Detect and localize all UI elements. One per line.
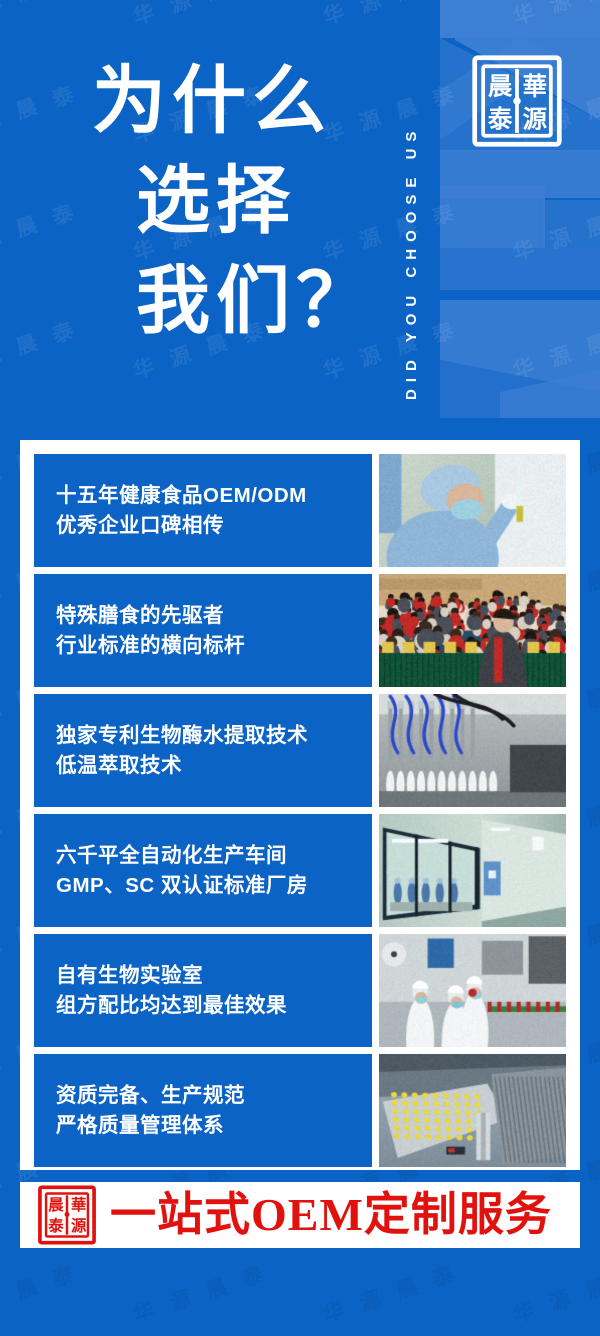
- feature-text-primary: 独家专利生物酶水提取技术: [56, 721, 372, 751]
- feature-text-primary: 六千平全自动化生产车间: [56, 841, 372, 871]
- svg-text:華: 華: [523, 72, 547, 100]
- seal-stamp-red-icon: 晨 華 泰 源: [36, 1183, 98, 1247]
- poster-root: 华 源 晨 泰华 源 晨 泰华 源 晨 泰华 源 晨 泰华 源 晨 泰华 源 晨…: [0, 0, 600, 1336]
- feature-text-secondary: 严格质量管理体系: [56, 1111, 372, 1141]
- feature-text-secondary: 行业标准的横向标杆: [56, 631, 372, 661]
- feature-card-1[interactable]: 十五年健康食品OEM/ODM优秀企业口碑相传: [34, 454, 372, 567]
- feature-photo-workers-white-coats-production-line: [379, 934, 566, 1047]
- feature-text-secondary: 优秀企业口碑相传: [56, 511, 372, 541]
- svg-text:晨: 晨: [488, 73, 513, 100]
- feature-photo-cleanroom-corridor-window: [379, 814, 566, 927]
- feature-row: 十五年健康食品OEM/ODM优秀企业口碑相传: [34, 454, 566, 567]
- feature-card-5[interactable]: 自有生物实验室组方配比均达到最佳效果: [34, 934, 372, 1047]
- feature-row: 资质完备、生产规范严格质量管理体系: [34, 1054, 566, 1167]
- watermark-text: 华 源 晨 泰: [319, 1257, 463, 1329]
- svg-text:源: 源: [71, 1216, 87, 1235]
- feature-card-2[interactable]: 特殊膳食的先驱者行业标准的横向标杆: [34, 574, 372, 687]
- features-list: 十五年健康食品OEM/ODM优秀企业口碑相传特殊膳食的先驱者行业标准的横向标杆独…: [34, 454, 566, 1160]
- poster-header: 为什么 选择 我们？ DID YOU CHOOSE US 晨 華 泰 源: [0, 0, 600, 440]
- page-title: 为什么 选择 我们？: [92, 52, 392, 352]
- title-line-2: 选择: [92, 152, 392, 252]
- brand-seal-red-icon: 晨 華 泰 源: [36, 1183, 98, 1247]
- banner-headline: 一站式OEM定制服务: [110, 1192, 552, 1238]
- feature-text-primary: 十五年健康食品OEM/ODM: [56, 481, 372, 511]
- feature-row: 自有生物实验室组方配比均达到最佳效果: [34, 934, 566, 1047]
- feature-photo-lab-technician-inspecting-sample: [379, 454, 566, 567]
- feature-card-6[interactable]: 资质完备、生产规范严格质量管理体系: [34, 1054, 372, 1167]
- feature-row: 六千平全自动化生产车间GMP、SC 双认证标准厂房: [34, 814, 566, 927]
- watermark-text: 华 源 晨 泰: [509, 1257, 600, 1329]
- vertical-english-tagline: DID YOU CHOOSE US: [404, 30, 419, 400]
- feature-text-primary: 自有生物实验室: [56, 961, 372, 991]
- feature-text-secondary: 低温萃取技术: [56, 751, 372, 781]
- feature-photo-bottling-filling-machinery: [379, 694, 566, 807]
- feature-photo-tablet-blister-packaging-machine: [379, 1054, 566, 1167]
- svg-text:晨: 晨: [48, 1196, 64, 1214]
- feature-row: 特殊膳食的先驱者行业标准的横向标杆: [34, 574, 566, 687]
- title-line-1: 为什么: [92, 52, 392, 152]
- feature-photo-conference-audience-seminar: [379, 574, 566, 687]
- bottom-banner: 晨 華 泰 源 一站式OEM定制服务: [20, 1182, 580, 1248]
- feature-text-primary: 特殊膳食的先驱者: [56, 601, 372, 631]
- feature-text-secondary: 组方配比均达到最佳效果: [56, 991, 372, 1021]
- svg-text:泰: 泰: [488, 105, 513, 133]
- svg-text:源: 源: [523, 105, 548, 133]
- watermark-text: 华 源 晨 泰: [129, 1257, 273, 1329]
- feature-card-4[interactable]: 六千平全自动化生产车间GMP、SC 双认证标准厂房: [34, 814, 372, 927]
- features-frame: 十五年健康食品OEM/ODM优秀企业口碑相传特殊膳食的先驱者行业标准的横向标杆独…: [20, 440, 580, 1170]
- feature-card-3[interactable]: 独家专利生物酶水提取技术低温萃取技术: [34, 694, 372, 807]
- svg-text:華: 華: [71, 1195, 86, 1214]
- brand-seal-icon: 晨 華 泰 源: [470, 52, 564, 150]
- feature-text-secondary: GMP、SC 双认证标准厂房: [56, 871, 372, 901]
- svg-text:泰: 泰: [47, 1216, 64, 1235]
- title-line-3: 我们？: [92, 252, 392, 352]
- feature-row: 独家专利生物酶水提取技术低温萃取技术: [34, 694, 566, 807]
- seal-stamp-icon: 晨 華 泰 源: [470, 52, 564, 150]
- watermark-text: 华 源 晨 泰: [0, 1257, 83, 1329]
- feature-text-primary: 资质完备、生产规范: [56, 1081, 372, 1111]
